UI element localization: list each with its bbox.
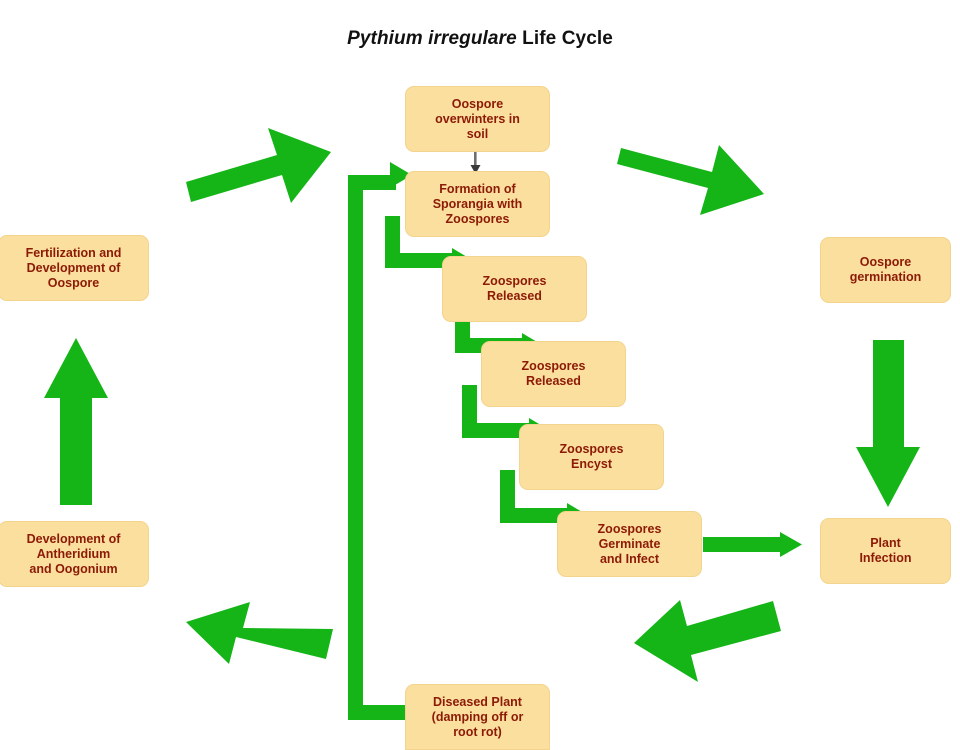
node-development-antheridium-label: Development of Antheridium and Oogonium [27,532,121,577]
node-zoospores-released-1-label: Zoospores Released [483,274,547,304]
node-zoospores-released-1[interactable]: Zoospores Released [442,256,587,322]
arrow-germinate-to-plant-infection-icon [703,532,802,557]
node-development-antheridium[interactable]: Development of Antheridium and Oogonium [0,521,149,587]
node-zoospores-released-2[interactable]: Zoospores Released [481,341,626,407]
node-diseased-plant[interactable]: Diseased Plant (damping off or root rot) [405,684,550,750]
node-oospore-germination-label: Oospore germination [827,255,944,285]
node-zoospores-released-2-label: Zoospores Released [522,359,586,389]
node-formation-sporangia[interactable]: Formation of Sporangia with Zoospores [405,171,550,237]
node-oospore-overwinters-label: Oospore overwinters in soil [435,97,520,142]
node-plant-infection-label: Plant Infection [859,536,911,566]
node-oospore-germination[interactable]: Oospore germination [820,237,951,303]
arrow-bottom-right-in-icon [634,600,781,682]
arrow-return-diseased-to-sporangia-icon [348,162,416,720]
node-formation-sporangia-label: Formation of Sporangia with Zoospores [433,182,523,227]
node-diseased-plant-label: Diseased Plant (damping off or root rot) [432,695,524,740]
node-fertilization-oospore[interactable]: Fertilization and Development of Oospore [0,235,149,301]
node-fertilization-oospore-label: Fertilization and Development of Oospore [26,246,122,291]
node-oospore-overwinters[interactable]: Oospore overwinters in soil [405,86,550,152]
node-zoospores-germinate[interactable]: Zoospores Germinate and Infect [557,511,702,577]
arrow-top-to-upper-right-icon [617,145,764,215]
arrow-upper-left-to-top-icon [186,128,331,203]
node-plant-infection[interactable]: Plant Infection [820,518,951,584]
arrow-bottom-left-out-icon [186,602,333,664]
arrow-left-up-icon [44,338,108,505]
node-zoospores-encyst-label: Zoospores Encyst [560,442,624,472]
node-zoospores-germinate-label: Zoospores Germinate and Infect [598,522,662,567]
diagram-canvas: Pythium irregulare Life Cycle [0,0,960,750]
node-zoospores-encyst[interactable]: Zoospores Encyst [519,424,664,490]
arrow-right-down-icon [856,340,920,507]
